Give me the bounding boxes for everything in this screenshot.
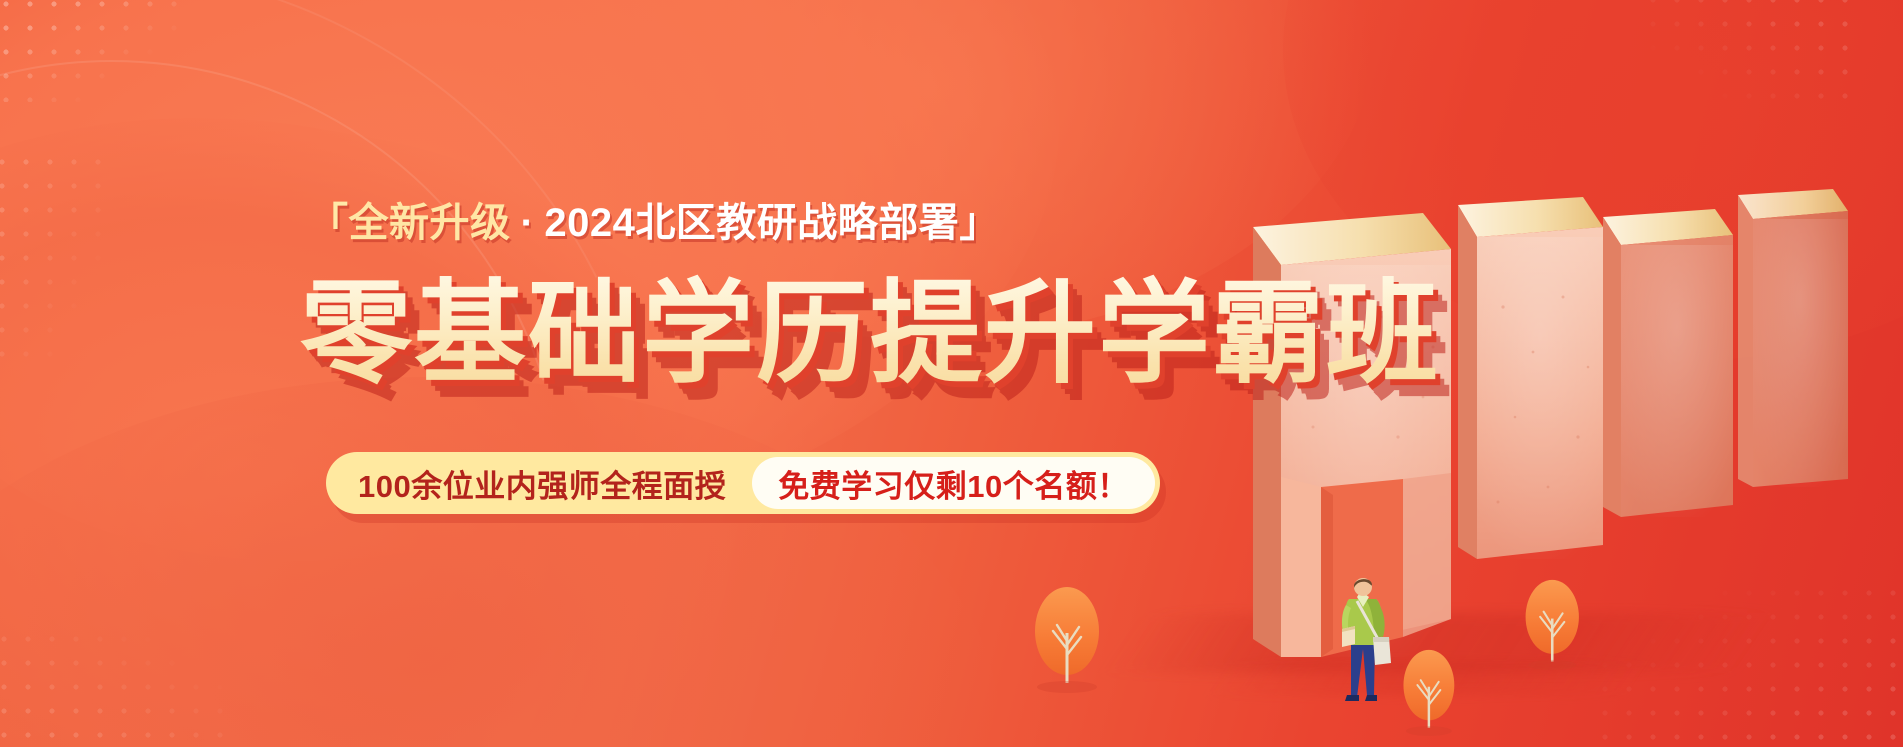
promo-banner: 「全新升级·2024北区教研战略部署」 零基础学历提升学霸班 100余位业内强师… bbox=[0, 0, 1903, 747]
promo-badge-slots-label: 免费学习仅剩10个名额！ bbox=[752, 457, 1154, 509]
subtitle-separator: · bbox=[511, 201, 545, 245]
subtitle-open-bracket: 「 bbox=[308, 201, 349, 245]
banner-copy: 「全新升级·2024北区教研战略部署」 零基础学历提升学霸班 100余位业内强师… bbox=[0, 0, 1903, 747]
subtitle-close-bracket: 」 bbox=[959, 201, 1000, 245]
subtitle-highlight: 全新升级 bbox=[349, 201, 511, 245]
promo-badge: 100余位业内强师全程面授 免费学习仅剩10个名额！ bbox=[326, 452, 1160, 514]
subtitle-rest: 2024北区教研战略部署 bbox=[544, 201, 959, 245]
promo-badge-teachers-label: 100余位业内强师全程面授 bbox=[326, 461, 752, 506]
page-title: 零基础学历提升学霸班 bbox=[300, 243, 1440, 405]
banner-subtitle: 「全新升级·2024北区教研战略部署」 bbox=[308, 190, 1000, 248]
